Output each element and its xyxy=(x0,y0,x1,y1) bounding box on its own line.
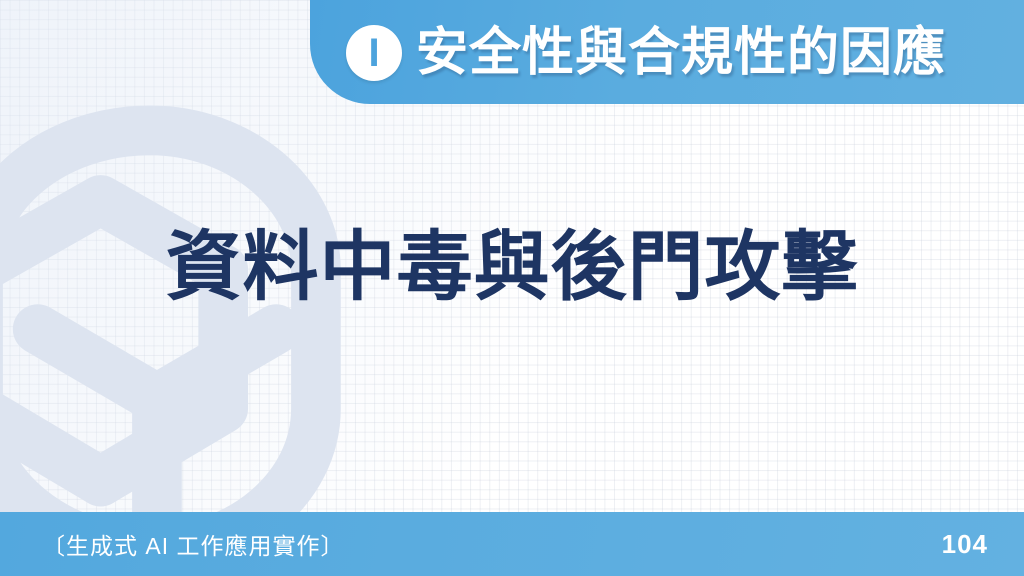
section-header-bar: I 安全性與合規性的因應 xyxy=(310,0,1024,104)
section-number-label: I xyxy=(368,33,379,73)
section-title: 安全性與合規性的因應 xyxy=(416,27,946,79)
main-title-container: 資料中毒與後門攻擊 xyxy=(0,228,1024,308)
section-number-badge: I xyxy=(346,25,402,81)
footer-course-label: 〔生成式 AI 工作應用實作〕 xyxy=(42,527,345,561)
openai-knot-logo-icon xyxy=(0,84,412,576)
slide-canvas: I 安全性與合規性的因應 資料中毒與後門攻擊 〔生成式 AI 工作應用實作〕 1… xyxy=(0,0,1024,576)
page-number: 104 xyxy=(942,529,988,560)
footer-bar: 〔生成式 AI 工作應用實作〕 104 xyxy=(0,512,1024,576)
main-title: 資料中毒與後門攻擊 xyxy=(166,228,859,308)
